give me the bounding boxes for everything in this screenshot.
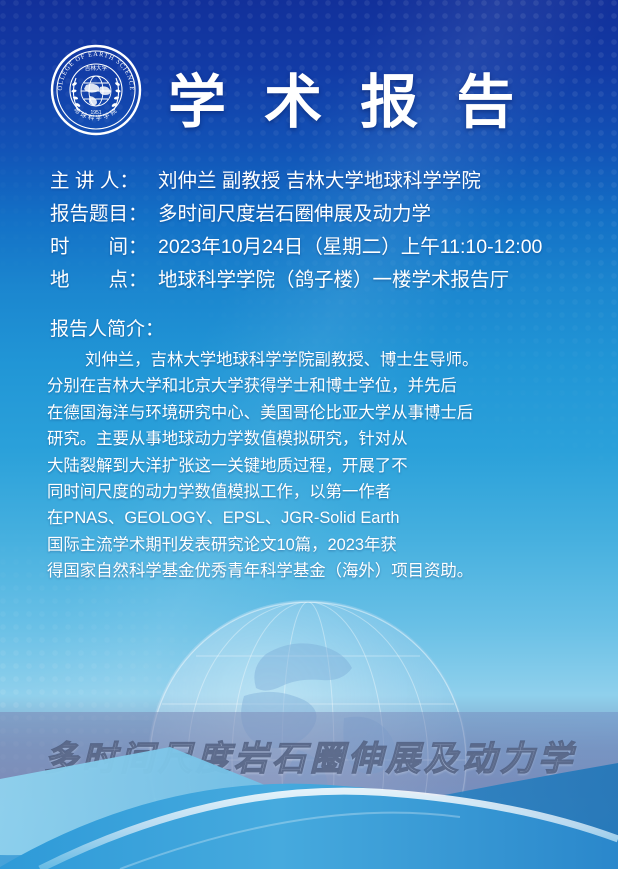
poster-canvas: COLLEGE OF EARTH SCIENCES 地球科学学院	[0, 0, 618, 869]
bio-line: 大陆裂解到大洋扩张这一关键地质过程，开展了不	[47, 458, 447, 474]
bio-line: 得国家自然科学基金优秀青年科学基金（海外）项目资助。	[47, 563, 447, 579]
info-value-speaker: 刘仲兰 副教授 吉林大学地球科学学院	[158, 172, 590, 192]
info-label-speaker: 主 讲 人：	[50, 172, 158, 192]
info-label-venue: 地 点：	[50, 271, 158, 291]
info-row-speaker: 主 讲 人： 刘仲兰 副教授 吉林大学地球科学学院	[50, 172, 590, 192]
info-label-topic: 报告题目：	[50, 205, 158, 225]
info-value-topic: 多时间尺度岩石圈伸展及动力学	[158, 205, 590, 225]
bottom-wave-decoration	[0, 739, 618, 869]
info-row-time: 时 间： 2023年10月24日（星期二）上午11:10-12:00	[50, 238, 590, 258]
bio-line: 在德国海洋与环境研究中心、美国哥伦比亚大学从事博士后	[47, 405, 447, 421]
bio-line: 国际主流学术期刊发表研究论文10篇，2023年获	[47, 537, 447, 553]
seal-year: 1951	[90, 110, 101, 116]
info-value-venue: 地球科学学院（鸽子楼）一楼学术报告厅	[158, 271, 590, 291]
info-value-time: 2023年10月24日（星期二）上午11:10-12:00	[158, 238, 590, 258]
bio-heading: 报告人简介：	[50, 320, 164, 339]
info-row-topic: 报告题目： 多时间尺度岩石圈伸展及动力学	[50, 205, 590, 225]
event-info-block: 主 讲 人： 刘仲兰 副教授 吉林大学地球科学学院 报告题目： 多时间尺度岩石圈…	[50, 172, 590, 304]
seal-inner-text: 吉林大学	[85, 64, 108, 72]
bio-line: 在PNAS、GEOLOGY、EPSL、JGR-Solid Earth	[47, 510, 447, 526]
college-seal-logo: COLLEGE OF EARTH SCIENCES 地球科学学院	[50, 44, 142, 136]
bio-line: 分别在吉林大学和北京大学获得学士和博士学位，并先后	[47, 378, 447, 394]
page-title: 学 术 报 告	[168, 74, 525, 132]
info-label-time: 时 间：	[50, 238, 158, 258]
bio-body: 刘仲兰，吉林大学地球科学学院副教授、博士生导师。 分别在吉林大学和北京大学获得学…	[47, 352, 447, 590]
bio-line: 同时间尺度的动力学数值模拟工作，以第一作者	[47, 484, 447, 500]
bio-line: 刘仲兰，吉林大学地球科学学院副教授、博士生导师。	[47, 352, 447, 368]
info-row-venue: 地 点： 地球科学学院（鸽子楼）一楼学术报告厅	[50, 271, 590, 291]
bio-line: 研究。主要从事地球动力学数值模拟研究，针对从	[47, 431, 447, 447]
